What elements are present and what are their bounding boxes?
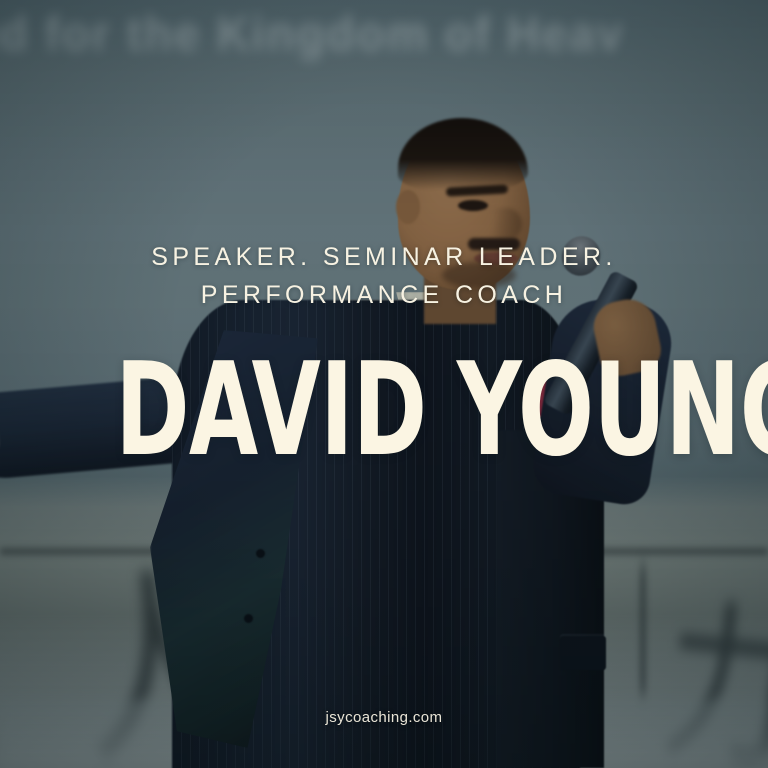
website-url: jsycoaching.com — [0, 709, 768, 726]
promo-graphic: ed for the Kingdom of Heav 人 丨 力 — [0, 0, 768, 768]
speaker-name-headline: David Young — [115, 352, 653, 470]
tagline: Speaker. Seminar Leader. Performance Coa… — [0, 238, 768, 314]
tagline-line-1: Speaker. Seminar Leader. — [151, 243, 616, 271]
text-overlay: Speaker. Seminar Leader. Performance Coa… — [0, 0, 768, 768]
tagline-line-2: Performance Coach — [0, 276, 768, 314]
